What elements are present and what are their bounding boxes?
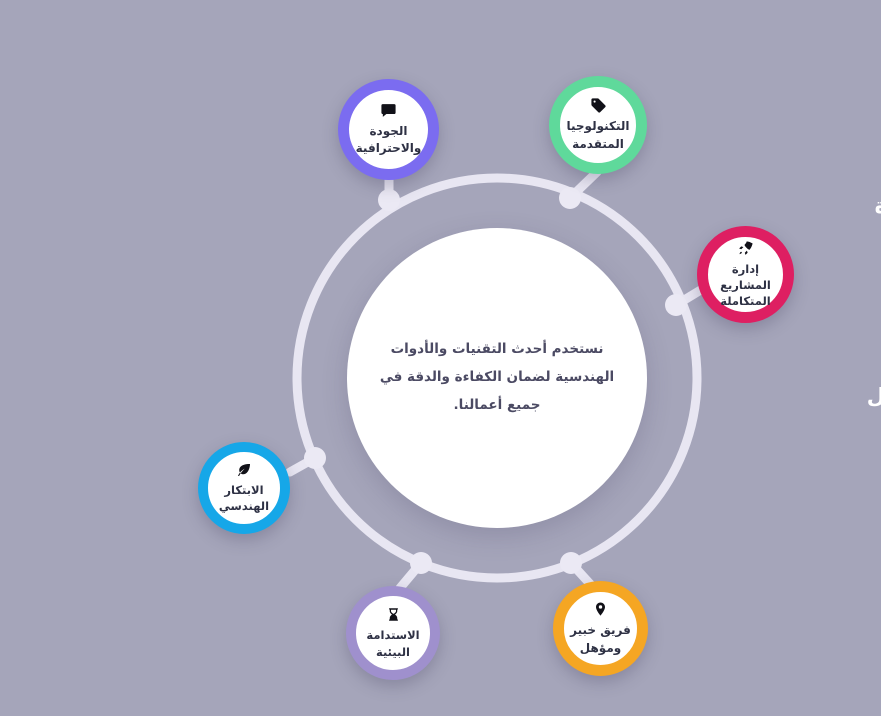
- connector-technology: [570, 172, 597, 198]
- ring-node-projects: [665, 294, 687, 316]
- bubble-label: الجودة والاحترافية: [349, 123, 428, 157]
- rocket-icon: [737, 240, 754, 257]
- bubble-technology[interactable]: التكنولوجيا المتقدمة: [549, 76, 647, 174]
- bubble-label: الاستدامة البيئية: [356, 627, 430, 660]
- leaf-icon: [236, 462, 252, 478]
- bubble-projects[interactable]: إدارة المشاريع المتكاملة: [697, 226, 794, 323]
- bubble-quality[interactable]: الجودة والاحترافية: [338, 79, 439, 180]
- bubble-sustainability[interactable]: الاستدامة البيئية: [346, 586, 440, 680]
- comment-icon: [380, 102, 397, 119]
- bubble-innovation[interactable]: الابتكار الهندسي: [198, 442, 290, 534]
- edge-text-bottom: ل: [867, 386, 881, 407]
- connector-sustainability: [400, 563, 421, 588]
- bubble-label: التكنولوجيا المتقدمة: [560, 118, 636, 152]
- bubble-team[interactable]: فريق خبير ومؤهل: [553, 581, 648, 676]
- ring-node-technology: [559, 187, 581, 209]
- bubble-label: الابتكار الهندسي: [208, 482, 280, 515]
- center-description: نستخدم أحدث التقنيات والأدوات الهندسية ل…: [371, 336, 623, 419]
- ring-node-innovation: [304, 447, 326, 469]
- center-disc: نستخدم أحدث التقنيات والأدوات الهندسية ل…: [347, 228, 647, 528]
- connector-innovation: [290, 458, 315, 472]
- ring-node-sustainability: [410, 552, 432, 574]
- tag-icon: [590, 97, 607, 114]
- edge-text-top: ة: [875, 196, 881, 217]
- hourglass-icon: [386, 606, 401, 623]
- ring-node-quality: [378, 189, 400, 211]
- bubble-label: فريق خبير ومؤهل: [564, 622, 637, 656]
- map-pin-icon: [593, 600, 608, 618]
- ring-node-team: [560, 552, 582, 574]
- diagram-canvas: نستخدم أحدث التقنيات والأدوات الهندسية ل…: [0, 0, 881, 716]
- bubble-label: إدارة المشاريع المتكاملة: [708, 261, 783, 310]
